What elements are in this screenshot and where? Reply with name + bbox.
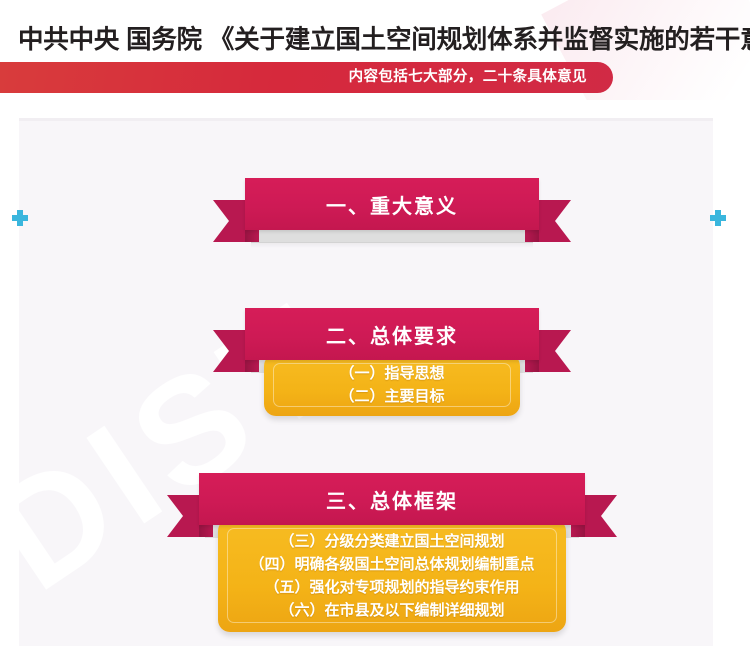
list-item[interactable]: （三）分级分类建立国土空间规划 bbox=[279, 530, 504, 553]
section-title-2: 二、总体要求 bbox=[326, 320, 458, 349]
corner-cross-marker-right bbox=[710, 210, 726, 226]
corner-cross-marker-left bbox=[12, 210, 28, 226]
section-block-1: 一、重大意义 bbox=[213, 178, 571, 258]
list-item[interactable]: （六）在市县及以下编制详细规划 bbox=[279, 599, 504, 622]
section-header-3[interactable]: 三、总体框架 bbox=[199, 473, 585, 525]
ribbon-shelf-shadow bbox=[251, 242, 533, 248]
section-items-box-2: （一）指导思想 （二）主要目标 bbox=[264, 354, 520, 416]
page-title: 中共中央 国务院 《关于建立国土空间规划体系并监督实施的若干意见》 bbox=[18, 22, 734, 58]
section-item-list-3: （三）分级分类建立国土空间规划 （四）明确各级国土空间总体规划编制重点 （五）强… bbox=[218, 519, 566, 632]
subtitle-text: 内容包括七大部分，二十条具体意见 bbox=[349, 62, 587, 93]
section-header-1[interactable]: 一、重大意义 bbox=[245, 178, 539, 230]
list-item[interactable]: （四）明确各级国土空间总体规划编制重点 bbox=[249, 553, 534, 576]
section-items-box-3: （三）分级分类建立国土空间规划 （四）明确各级国土空间总体规划编制重点 （五）强… bbox=[218, 519, 566, 632]
list-item[interactable]: （五）强化对专项规划的指导约束作用 bbox=[264, 576, 519, 599]
list-item[interactable]: （二）主要目标 bbox=[339, 385, 444, 408]
subtitle-banner: 内容包括七大部分，二十条具体意见 bbox=[0, 62, 613, 93]
section-block-3: （三）分级分类建立国土空间规划 （四）明确各级国土空间总体规划编制重点 （五）强… bbox=[167, 473, 617, 643]
document-header: 中共中央 国务院 《关于建立国土空间规划体系并监督实施的若干意见》 内容包括七大… bbox=[0, 0, 750, 100]
section-header-2[interactable]: 二、总体要求 bbox=[245, 308, 539, 360]
section-item-list-2: （一）指导思想 （二）主要目标 bbox=[264, 354, 520, 416]
card-inner-surface: DIST 一、重大意义 （一）指导思想 （二） bbox=[19, 121, 713, 646]
section-title-1: 一、重大意义 bbox=[326, 190, 458, 219]
section-block-2: （一）指导思想 （二）主要目标 二、总体要求 bbox=[213, 308, 571, 428]
content-card: DIST 一、重大意义 （一）指导思想 （二） bbox=[0, 100, 750, 646]
list-item[interactable]: （一）指导思想 bbox=[339, 362, 444, 385]
section-title-3: 三、总体框架 bbox=[326, 485, 458, 514]
